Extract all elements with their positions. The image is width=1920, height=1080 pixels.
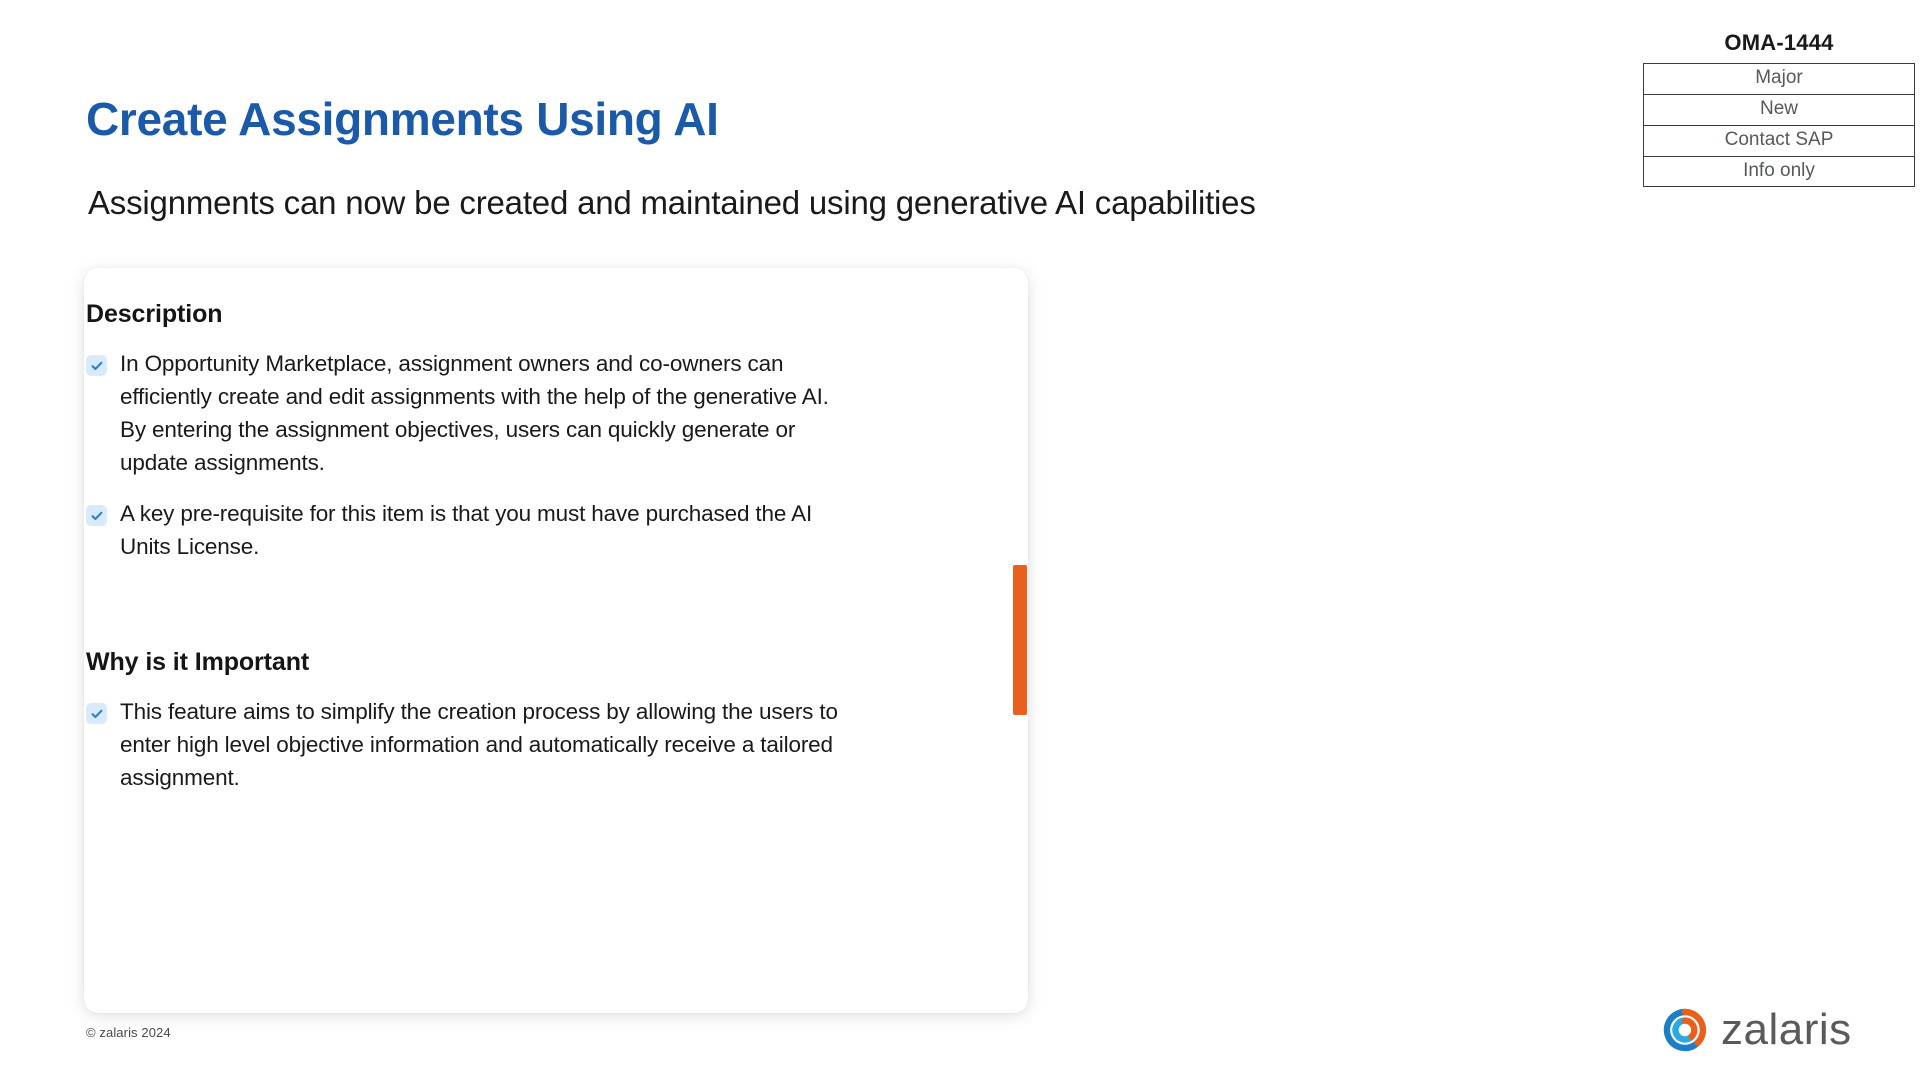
page-subtitle: Assignments can now be created and maint…	[88, 184, 1256, 222]
status-row-info: Info only	[1644, 157, 1914, 187]
list-item: This feature aims to simplify the creati…	[86, 695, 840, 794]
accent-bar	[1013, 565, 1027, 715]
check-badge-icon	[86, 355, 107, 376]
bullet-text: In Opportunity Marketplace, assignment o…	[120, 347, 840, 479]
list-item: In Opportunity Marketplace, assignment o…	[86, 347, 840, 479]
status-row-priority: Major	[1644, 64, 1914, 95]
status-table: Major New Contact SAP Info only	[1643, 63, 1915, 187]
bullet-list-why-important: This feature aims to simplify the creati…	[86, 695, 840, 794]
section-heading-description: Description	[86, 300, 840, 329]
bullet-text: A key pre-requisite for this item is tha…	[120, 497, 840, 563]
check-badge-icon	[86, 505, 107, 526]
copyright-text: © zalaris 2024	[86, 1025, 171, 1040]
check-badge-icon	[86, 703, 107, 724]
list-item: A key pre-requisite for this item is tha…	[86, 497, 840, 563]
zalaris-swirl-logo-icon	[1663, 1008, 1707, 1052]
status-row-enablement: Contact SAP	[1644, 126, 1914, 157]
page-title: Create Assignments Using AI	[86, 92, 719, 146]
section-why-important: Why is it Important This feature aims to…	[86, 648, 840, 794]
brand-logo: zalaris	[1663, 1005, 1852, 1055]
id-status-block: OMA-1444 Major New Contact SAP Info only	[1643, 30, 1915, 187]
bullet-list-description: In Opportunity Marketplace, assignment o…	[86, 347, 840, 563]
status-row-type: New	[1644, 95, 1914, 126]
brand-name-text: zalaris	[1721, 1005, 1852, 1055]
item-id-label: OMA-1444	[1643, 30, 1915, 56]
slide-root: Create Assignments Using AI Assignments …	[0, 0, 1920, 1080]
section-heading-why-important: Why is it Important	[86, 648, 840, 677]
bullet-text: This feature aims to simplify the creati…	[120, 695, 840, 794]
section-description: Description In Opportunity Marketplace, …	[86, 300, 840, 563]
